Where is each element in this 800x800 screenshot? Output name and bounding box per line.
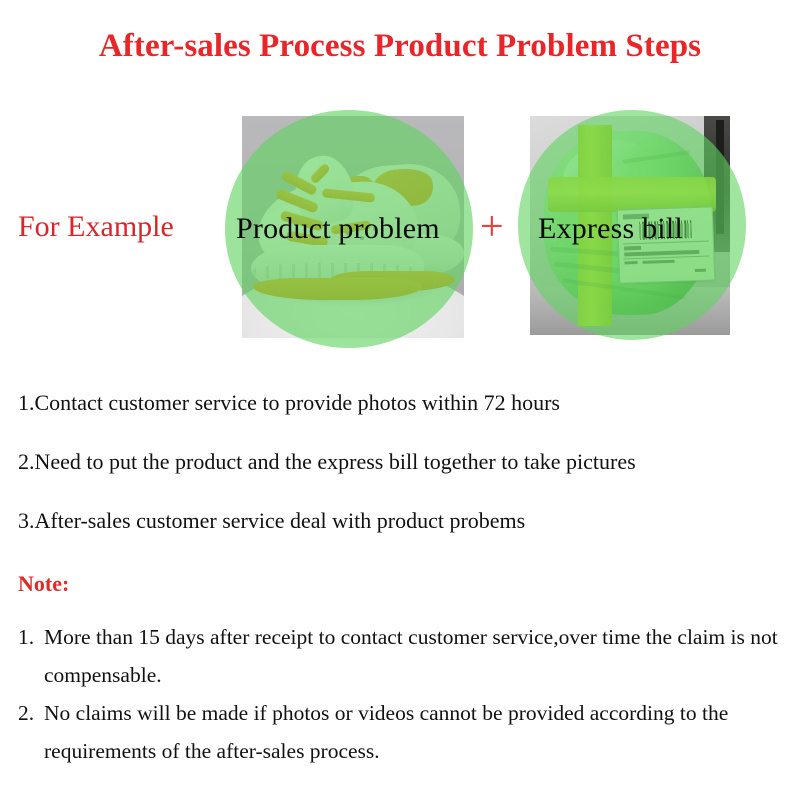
note-item: 1.More than 15 days after receipt to con… [18,618,790,694]
express-bill-caption: Express bill [538,212,683,246]
note-item-text: More than 15 days after receipt to conta… [44,625,778,687]
step-item: 1.Contact customer service to provide ph… [18,392,788,414]
note-list: 1.More than 15 days after receipt to con… [18,618,790,770]
note-heading: Note: [18,571,69,597]
for-example-label: For Example [18,210,174,244]
note-item-text: No claims will be made if photos or vide… [44,701,728,763]
page-title: After-sales Process Product Problem Step… [0,28,800,65]
example-section: For Example [0,110,800,345]
step-item: 3.After-sales customer service deal with… [18,510,788,532]
product-problem-caption: Product problem [236,212,440,246]
plus-icon: + [480,206,504,248]
note-item-number: 2. [18,694,44,732]
note-item: 2.No claims will be made if photos or vi… [18,694,790,770]
note-item-number: 1. [18,618,44,656]
steps-list: 1.Contact customer service to provide ph… [18,392,788,569]
step-item: 2.Need to put the product and the expres… [18,451,788,473]
